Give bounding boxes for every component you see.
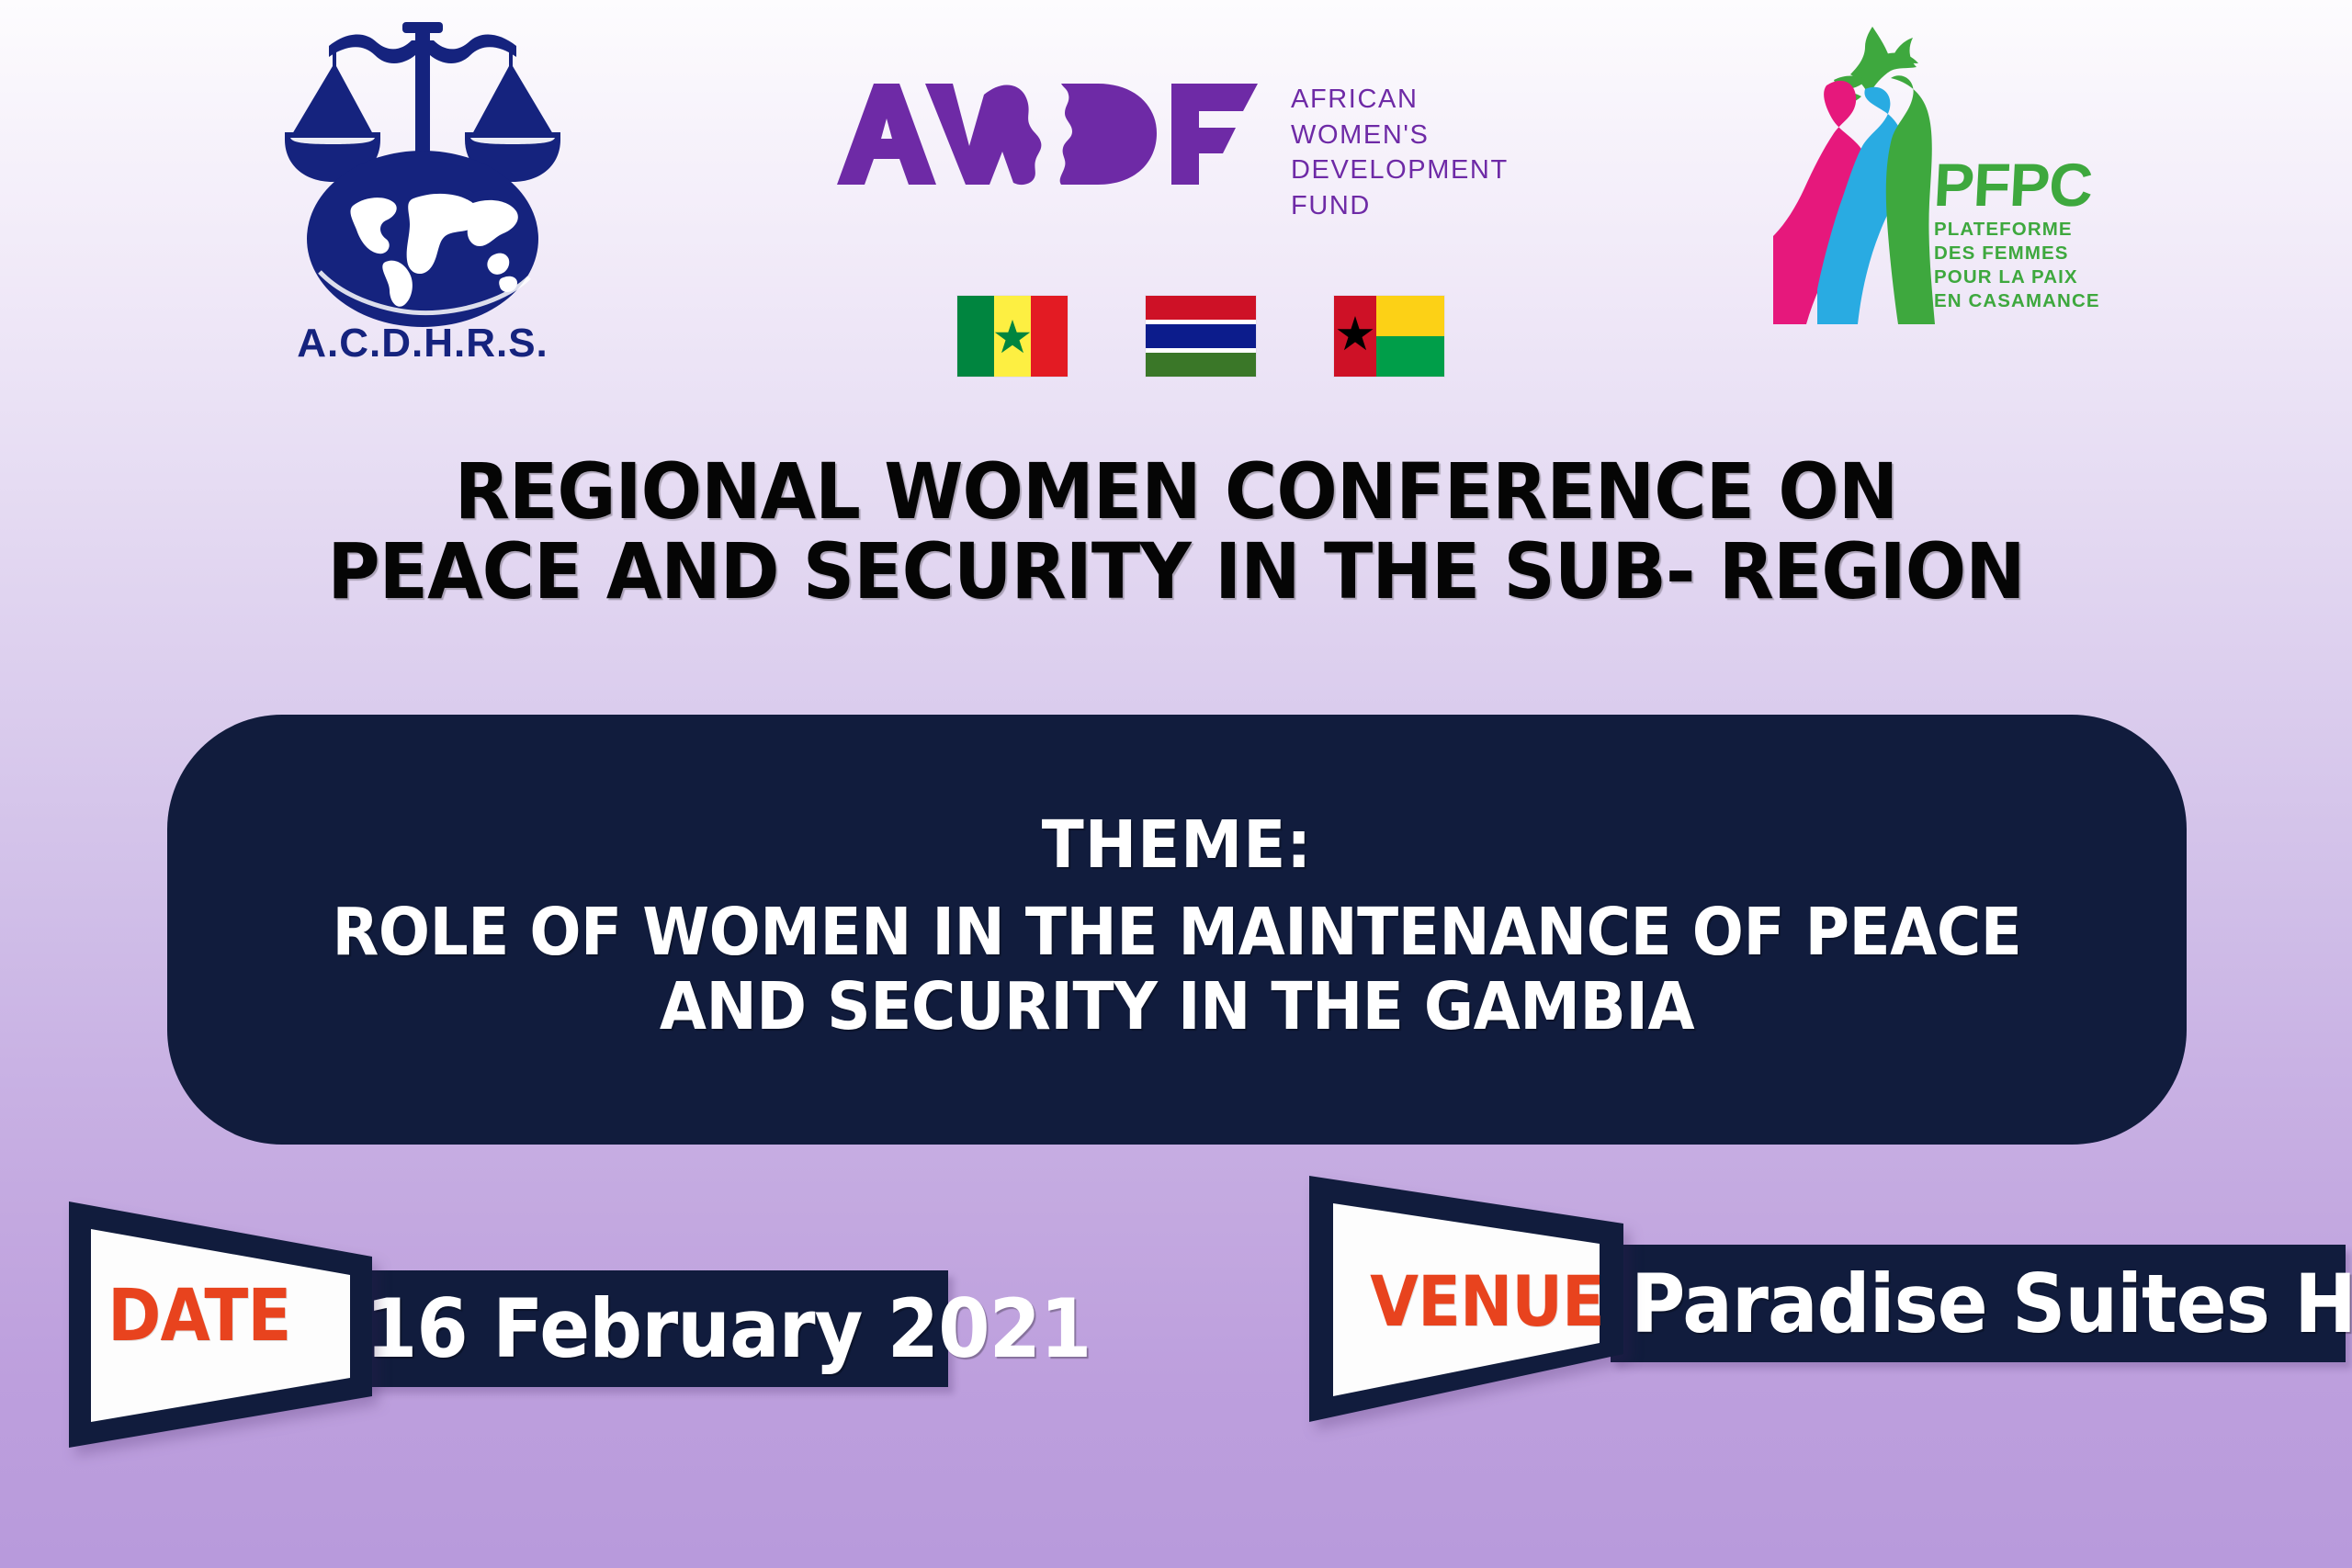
date-label: DATE: [107, 1275, 290, 1358]
date-value-bar: 16 February 2021: [342, 1270, 948, 1387]
awdf-wordmark-icon: [831, 78, 1263, 188]
poster-title-line-1: REGIONAL WOMEN CONFERENCE ON: [83, 452, 2270, 532]
awdf-logo: AFRICAN WOMEN'S DEVELOPMENT FUND: [831, 78, 1530, 188]
date-value: 16 February 2021: [366, 1281, 1091, 1376]
poster-title: REGIONAL WOMEN CONFERENCE ON PEACE AND S…: [83, 452, 2270, 611]
senegal-flag: [957, 296, 1068, 377]
theme-text-block: THEME: ROLE OF WOMEN IN THE MAINTENANCE …: [167, 812, 2187, 1048]
poster-title-line-2: PEACE AND SECURITY IN THE SUB- REGION: [83, 532, 2270, 612]
theme-box: THEME: ROLE OF WOMEN IN THE MAINTENANCE …: [167, 715, 2187, 1145]
acdhrs-logo: A.C.D.H.R.S.: [276, 9, 570, 367]
guinea-bissau-flag: [1334, 296, 1444, 377]
venue-value: Paradise Suites Hotel: [1631, 1257, 2352, 1351]
pfpc-women-dove-icon: [1773, 14, 1948, 326]
pfpc-tagline: PLATEFORME DES FEMMES POUR LA PAIX EN CA…: [1934, 218, 2100, 314]
gambia-flag: [1146, 296, 1256, 377]
country-flags-row: [957, 296, 1527, 380]
theme-line-1: ROLE OF WOMEN IN THE MAINTENANCE OF PEAC…: [238, 899, 2116, 964]
conference-poster: A.C.D.H.R.S.: [0, 0, 2352, 1568]
awdf-wordmark-text: AFRICAN WOMEN'S DEVELOPMENT FUND: [1291, 82, 1509, 223]
venue-value-bar: Paradise Suites Hotel: [1611, 1245, 2346, 1362]
logo-row: A.C.D.H.R.S.: [0, 0, 2352, 395]
venue-banner: Paradise Suites Hotel VENUE: [1309, 1176, 2352, 1479]
theme-label: THEME:: [218, 812, 2136, 877]
scales-of-justice-globe-icon: A.C.D.H.R.S.: [276, 9, 570, 367]
theme-line-2: AND SECURITY IN THE GAMBIA: [238, 974, 2116, 1039]
venue-label: VENUE: [1370, 1260, 1604, 1342]
pfpc-logo: PFPC PLATEFORME DES FEMMES POUR LA PAIX …: [1773, 14, 2159, 331]
acdhrs-caption: A.C.D.H.R.S.: [297, 321, 548, 366]
pfpc-abbreviation: PFPC: [1932, 156, 2101, 214]
date-banner: 16 February 2021 DATE: [0, 1176, 1011, 1479]
pfpc-text-block: PFPC PLATEFORME DES FEMMES POUR LA PAIX …: [1934, 156, 2100, 314]
